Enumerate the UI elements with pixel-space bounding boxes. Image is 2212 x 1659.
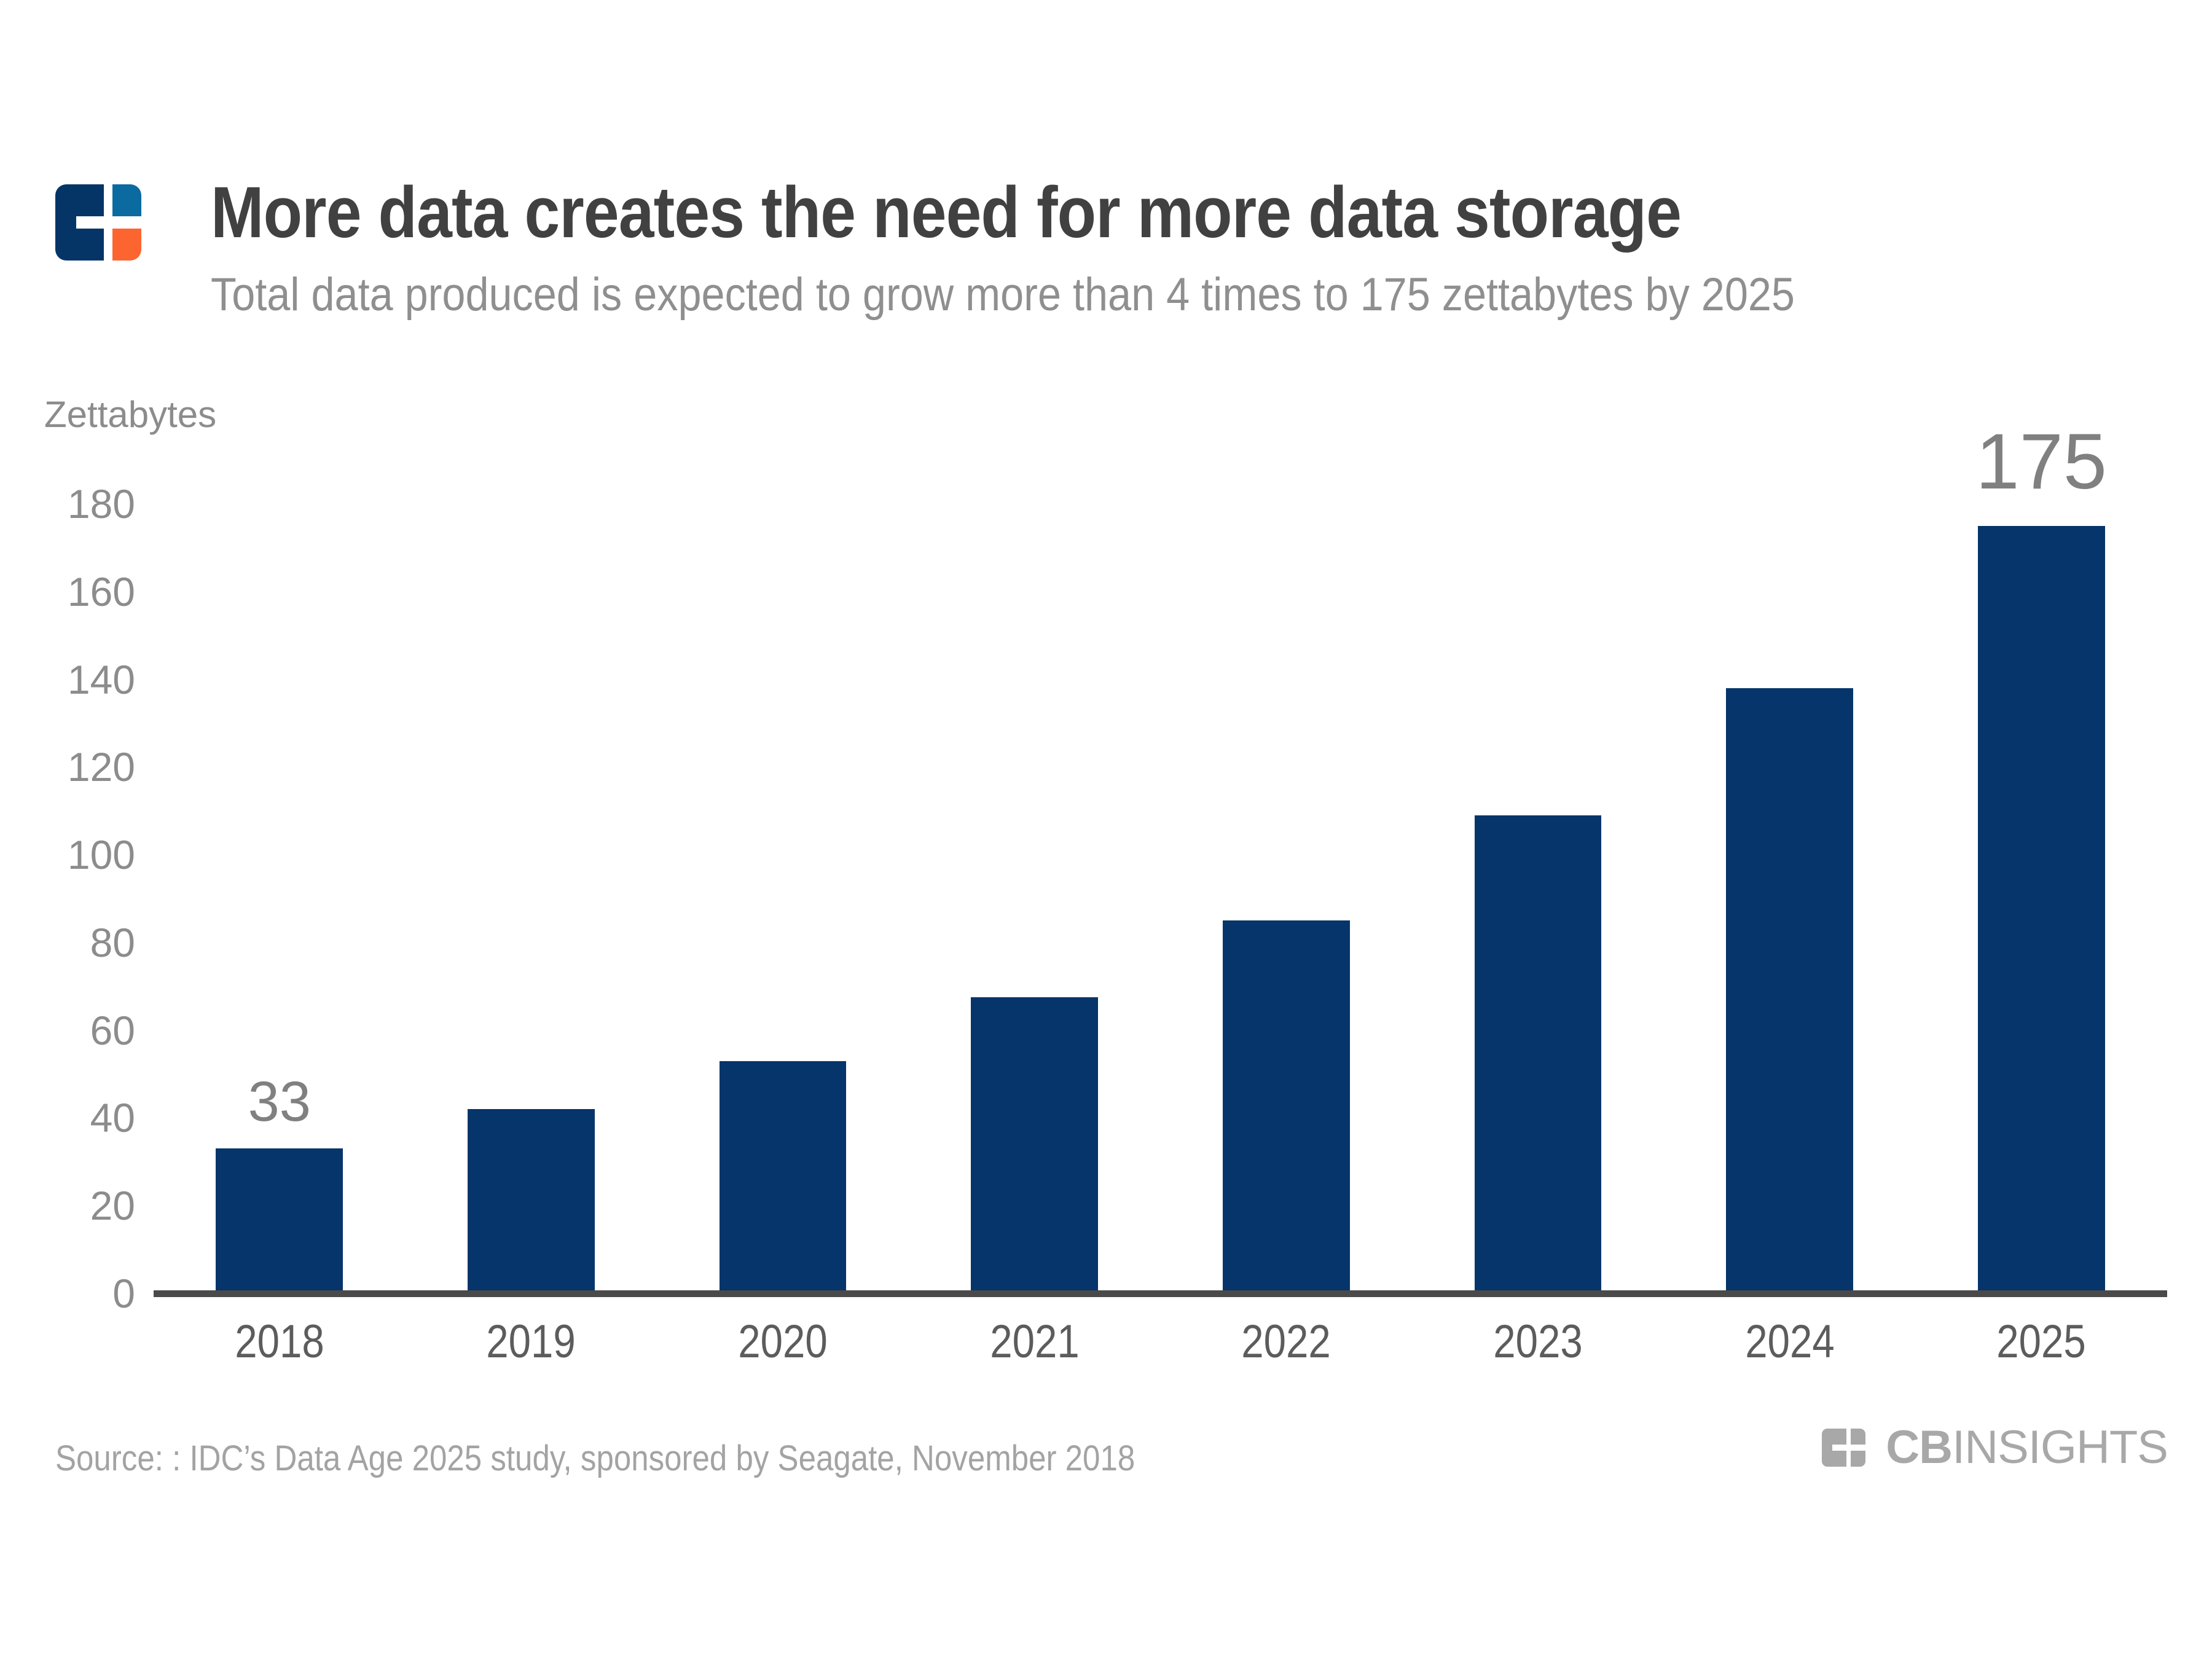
footer-wordmark: CBINSIGHTS: [1886, 1424, 2168, 1471]
x-axis-tick-2021: 2021: [990, 1315, 1079, 1368]
bar-2018[interactable]: [216, 1148, 343, 1293]
footer-wordmark-insights: INSIGHTS: [1952, 1421, 2168, 1473]
bar-2025[interactable]: [1978, 526, 2105, 1293]
source-note: Source: : IDC’s Data Age 2025 study, spo…: [55, 1438, 1135, 1479]
chart-page: More data creates the need for more data…: [0, 0, 2212, 1659]
x-axis-tick-2022: 2022: [1242, 1315, 1331, 1368]
x-axis-line: [154, 1290, 2167, 1297]
bar-2024[interactable]: [1726, 688, 1853, 1293]
x-axis-tick-2018: 2018: [235, 1315, 324, 1368]
bar-2021[interactable]: [971, 997, 1098, 1293]
footer-brand: CBINSIGHTS: [1822, 1424, 2168, 1471]
bars-group: [0, 0, 2212, 1293]
data-label-2018: 33: [248, 1073, 311, 1130]
bar-chart: Zettabytes 180160140120100806040200 3317…: [0, 0, 2212, 1659]
x-axis-tick-2025: 2025: [1996, 1315, 2085, 1368]
x-axis-tick-2024: 2024: [1745, 1315, 1834, 1368]
bar-2020[interactable]: [720, 1061, 847, 1293]
bar-2019[interactable]: [468, 1109, 595, 1293]
x-axis-tick-2023: 2023: [1493, 1315, 1582, 1368]
bar-2022[interactable]: [1223, 920, 1350, 1293]
x-axis-tick-2020: 2020: [738, 1315, 827, 1368]
cb-insights-footer-logo-icon: [1822, 1429, 1871, 1467]
x-axis-tick-2019: 2019: [487, 1315, 576, 1368]
bar-2023[interactable]: [1475, 815, 1602, 1293]
footer-wordmark-cb: CB: [1886, 1421, 1952, 1473]
data-label-2025: 175: [1975, 423, 2107, 501]
